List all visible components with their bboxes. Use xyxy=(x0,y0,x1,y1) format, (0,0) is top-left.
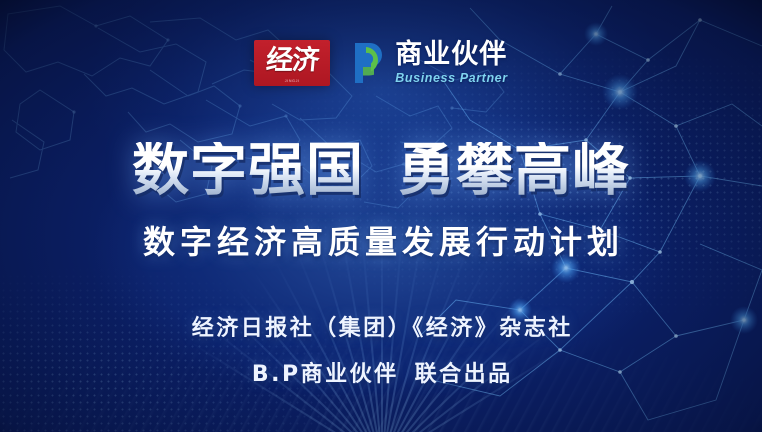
business-partner-logo: 商业伙伴 Business Partner xyxy=(352,41,507,85)
business-partner-text: 商业伙伴 Business Partner xyxy=(395,41,507,85)
credit-line-2-b: 联合出品 xyxy=(415,362,513,387)
credit-line-2-a: B.P商业伙伴 xyxy=(252,362,399,387)
headline-part-2: 勇攀高峰 xyxy=(398,137,630,203)
logo-row: 经济 JINGJI 商业伙伴 Business Partner xyxy=(0,30,762,96)
business-partner-cn: 商业伙伴 xyxy=(395,41,507,68)
headline: 数字强国勇攀高峰 xyxy=(0,142,762,199)
jingji-logo-cn: 经济 xyxy=(265,47,320,79)
poster-stage: 经济 JINGJI 商业伙伴 Business Partner 数字强国勇攀高峰… xyxy=(0,0,762,432)
stylized-p-mark-icon xyxy=(352,41,386,85)
subheadline: 数字经济高质量发展行动计划 xyxy=(0,226,762,258)
credit-line-2: B.P商业伙伴联合出品 xyxy=(0,356,762,388)
headline-part-1: 数字强国 xyxy=(132,137,364,203)
business-partner-en: Business Partner xyxy=(395,72,507,85)
jingji-logo-en: JINGJI xyxy=(254,79,330,83)
credit-line-1: 经济日报社（集团）《经济》杂志社 xyxy=(0,310,762,342)
jingji-logo: 经济 JINGJI xyxy=(254,40,330,86)
